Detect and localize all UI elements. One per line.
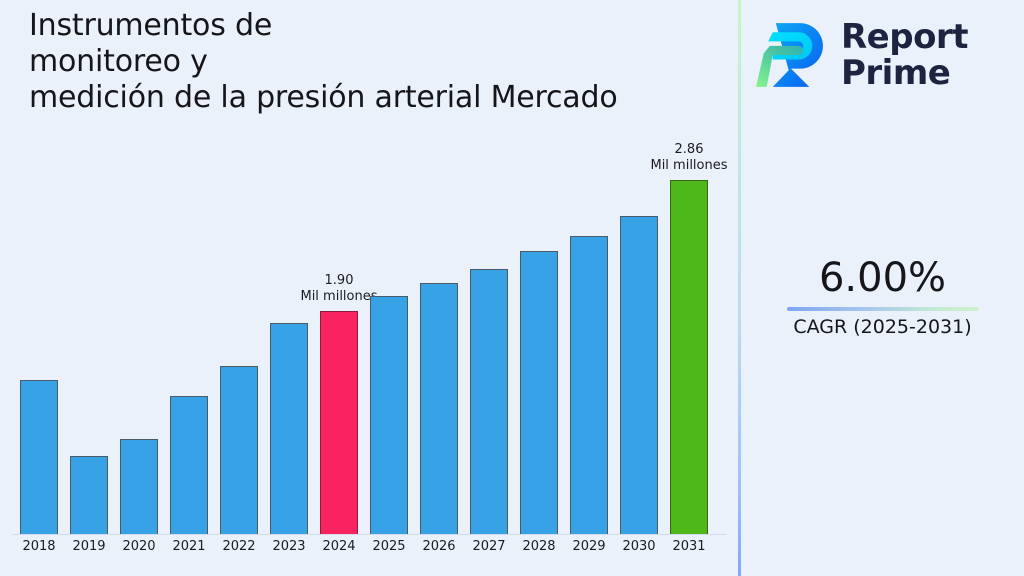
x-tick-2026: 2026 [420, 538, 458, 556]
cagr-value: 6.00% [741, 255, 1024, 301]
brand-logo: Report Prime [753, 8, 1015, 102]
bar-rect-2021[interactable] [170, 396, 208, 535]
x-tick-2022: 2022 [220, 538, 258, 556]
bar-rect-2030[interactable] [620, 216, 658, 535]
bar-rect-2018[interactable] [20, 380, 58, 535]
x-tick-2029: 2029 [570, 538, 608, 556]
bar-rect-2020[interactable] [120, 439, 158, 535]
chart-panel: Instrumentos de monitoreo y medición de … [0, 0, 739, 576]
bar-unit-2024: Mil millones [300, 289, 377, 305]
x-tick-2027: 2027 [470, 538, 508, 556]
bar-chart-plot-area: 1.90Mil millones2.86Mil millones [0, 130, 739, 535]
chart-infographic-page: Instrumentos de monitoreo y medición de … [0, 0, 1024, 576]
x-tick-2024: 2024 [320, 538, 358, 556]
axis-baseline [12, 534, 727, 535]
x-axis-tick-labels: 2018201920202021202220232024202520262027… [0, 538, 739, 562]
cagr-block: 6.00% CAGR (2025-2031) [741, 255, 1024, 339]
x-tick-2031: 2031 [670, 538, 708, 556]
x-tick-2021: 2021 [170, 538, 208, 556]
bar-rect-2019[interactable] [70, 456, 108, 535]
report-prime-logo-icon [753, 17, 829, 93]
bar-rect-2027[interactable] [470, 269, 508, 535]
x-tick-2020: 2020 [120, 538, 158, 556]
side-panel: Report Prime 6.00% CAGR (2025-2031) [741, 0, 1024, 576]
cagr-label: CAGR (2025-2031) [741, 315, 1024, 339]
bar-rect-2029[interactable] [570, 236, 608, 535]
x-tick-2019: 2019 [70, 538, 108, 556]
bar-rect-2028[interactable] [520, 251, 558, 535]
bar-rect-2031[interactable] [670, 180, 708, 535]
bar-unit-2031: Mil millones [650, 158, 727, 174]
bar-rect-2023[interactable] [270, 323, 308, 535]
bar-value-label-2031: 2.86Mil millones [650, 142, 727, 174]
x-tick-2018: 2018 [20, 538, 58, 556]
bar-rect-2024[interactable] [320, 311, 358, 535]
x-tick-2030: 2030 [620, 538, 658, 556]
cagr-divider [787, 307, 979, 311]
x-tick-2023: 2023 [270, 538, 308, 556]
bar-rect-2025[interactable] [370, 296, 408, 535]
bar-value-2031: 2.86 [650, 142, 727, 158]
page-title: Instrumentos de monitoreo y medición de … [29, 8, 719, 116]
bar-rect-2026[interactable] [420, 283, 458, 535]
bar-rect-2022[interactable] [220, 366, 258, 535]
bar-value-label-2024: 1.90Mil millones [300, 273, 377, 305]
bar-value-2024: 1.90 [300, 273, 377, 289]
brand-wordmark: Report Prime [841, 19, 968, 91]
x-tick-2028: 2028 [520, 538, 558, 556]
x-tick-2025: 2025 [370, 538, 408, 556]
